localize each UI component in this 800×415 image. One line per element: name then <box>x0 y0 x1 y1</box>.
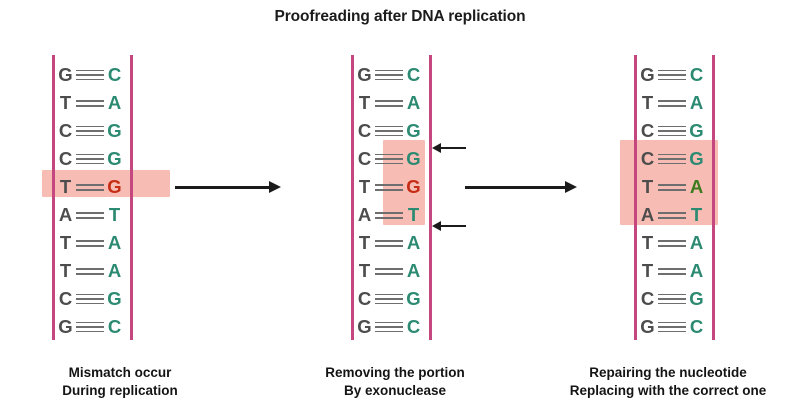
base-right: A <box>106 234 123 253</box>
base-right-mismatch: G <box>405 178 422 197</box>
base-pair-ladder: GCTACGCGTAATTATACGGC <box>628 55 748 347</box>
base-right: A <box>688 94 705 113</box>
arrow-shaft <box>439 147 466 149</box>
triple-bond-icon <box>657 292 687 306</box>
triple-bond-icon <box>657 152 687 166</box>
triple-bond-icon <box>374 292 404 306</box>
base-left: T <box>356 94 373 113</box>
base-pair-row: TA <box>345 229 453 257</box>
proofreading-diagram: Proofreading after DNA replication GCTAC… <box>0 0 800 415</box>
base-pair-row: GC <box>345 313 453 341</box>
base-left: T <box>639 262 656 281</box>
base-pair-row: TA <box>628 89 736 117</box>
base-right: G <box>405 122 422 141</box>
caption-excision: Removing the portion By exonuclease <box>280 364 510 400</box>
triple-bond-icon <box>374 320 404 334</box>
base-pair-row: CG <box>46 117 154 145</box>
triple-bond-icon <box>657 320 687 334</box>
base-right: A <box>106 262 123 281</box>
base-pair-row: CG <box>628 145 736 173</box>
double-bond-icon <box>75 264 105 278</box>
base-right: G <box>405 150 422 169</box>
base-pair-row: CG <box>345 117 453 145</box>
base-left: G <box>356 318 373 337</box>
base-pair-row: CG <box>628 117 736 145</box>
base-left: T <box>356 234 373 253</box>
triple-bond-icon <box>657 124 687 138</box>
arrow-shaft <box>465 186 567 189</box>
arrow-head <box>565 181 577 193</box>
base-right: C <box>106 318 123 337</box>
triple-bond-icon <box>374 124 404 138</box>
dna-panel-repair: GCTACGCGTAATTATACGGC <box>628 55 748 347</box>
exonuclease-arrow-top <box>432 143 466 153</box>
double-bond-icon <box>657 180 687 194</box>
base-left: G <box>639 66 656 85</box>
caption-line-1: Mismatch occur <box>10 364 230 382</box>
triple-bond-icon <box>657 68 687 82</box>
base-right: C <box>405 318 422 337</box>
base-left: T <box>57 234 74 253</box>
exonuclease-arrow-bottom <box>432 221 466 231</box>
base-right: G <box>106 150 123 169</box>
double-bond-icon <box>657 264 687 278</box>
base-left: T <box>639 94 656 113</box>
double-bond-icon <box>75 236 105 250</box>
base-left: C <box>57 122 74 141</box>
base-right: G <box>688 290 705 309</box>
base-right-mismatch: G <box>106 178 123 197</box>
base-pair-row: GC <box>46 61 154 89</box>
base-right: A <box>405 262 422 281</box>
double-bond-icon <box>374 236 404 250</box>
base-pair-row: TG <box>46 173 154 201</box>
base-pair-row: CG <box>46 285 154 313</box>
dna-panel-excision: GCTACGCGTGATTATACGGC <box>345 55 465 347</box>
double-bond-icon <box>657 236 687 250</box>
base-left: C <box>639 150 656 169</box>
arrow-shaft <box>439 225 466 227</box>
triple-bond-icon <box>75 68 105 82</box>
base-left: C <box>356 122 373 141</box>
caption-repair: Repairing the nucleotide Replacing with … <box>540 364 796 400</box>
base-right: T <box>688 206 705 225</box>
base-pair-row: TA <box>628 173 736 201</box>
base-right: G <box>688 122 705 141</box>
base-right: A <box>106 94 123 113</box>
base-right: C <box>688 66 705 85</box>
base-right: A <box>405 234 422 253</box>
base-pair-ladder: GCTACGCGTGATTATACGGC <box>46 55 166 347</box>
double-bond-icon <box>374 96 404 110</box>
base-left: T <box>57 94 74 113</box>
base-pair-row: TA <box>628 229 736 257</box>
base-pair-row: TA <box>46 89 154 117</box>
caption-line-2: During replication <box>10 382 230 400</box>
base-left: T <box>57 178 74 197</box>
dna-panel-mismatch: GCTACGCGTGATTATACGGC <box>46 55 166 347</box>
base-left: C <box>57 150 74 169</box>
base-left: A <box>57 206 74 225</box>
base-pair-ladder: GCTACGCGTGATTATACGGC <box>345 55 465 347</box>
triple-bond-icon <box>75 320 105 334</box>
base-right: A <box>405 94 422 113</box>
arrow-shaft <box>175 186 271 189</box>
base-pair-row: AT <box>628 201 736 229</box>
triple-bond-icon <box>374 152 404 166</box>
double-bond-icon <box>75 180 105 194</box>
base-right-repaired: A <box>688 178 705 197</box>
page-title: Proofreading after DNA replication <box>0 8 800 26</box>
base-left: A <box>639 206 656 225</box>
base-right: G <box>405 290 422 309</box>
base-right: A <box>688 234 705 253</box>
base-right: T <box>106 206 123 225</box>
double-bond-icon <box>75 208 105 222</box>
base-pair-row: TA <box>46 229 154 257</box>
base-left: T <box>639 178 656 197</box>
base-pair-row: CG <box>46 145 154 173</box>
base-right: A <box>688 262 705 281</box>
triple-bond-icon <box>374 68 404 82</box>
base-pair-row: GC <box>628 61 736 89</box>
triple-bond-icon <box>75 152 105 166</box>
triple-bond-icon <box>75 124 105 138</box>
caption-line-2: By exonuclease <box>280 382 510 400</box>
caption-line-1: Repairing the nucleotide <box>540 364 796 382</box>
double-bond-icon <box>75 96 105 110</box>
triple-bond-icon <box>75 292 105 306</box>
base-pair-row: GC <box>628 313 736 341</box>
base-left: C <box>57 290 74 309</box>
base-left: G <box>639 318 656 337</box>
base-pair-row: GC <box>345 61 453 89</box>
base-pair-row: TA <box>345 257 453 285</box>
arrow-head <box>269 181 281 193</box>
base-pair-row: TA <box>628 257 736 285</box>
base-left: C <box>356 150 373 169</box>
base-right: G <box>688 150 705 169</box>
double-bond-icon <box>374 208 404 222</box>
base-right: C <box>405 66 422 85</box>
base-left: C <box>639 122 656 141</box>
caption-line-1: Removing the portion <box>280 364 510 382</box>
base-left: T <box>57 262 74 281</box>
base-pair-row: GC <box>46 313 154 341</box>
base-right: C <box>688 318 705 337</box>
step-arrow-1 <box>175 180 281 194</box>
caption-mismatch: Mismatch occur During replication <box>10 364 230 400</box>
base-left: G <box>356 66 373 85</box>
step-arrow-2 <box>465 180 577 194</box>
base-left: C <box>639 290 656 309</box>
base-pair-row: CG <box>345 285 453 313</box>
base-right: T <box>405 206 422 225</box>
base-pair-row: TG <box>345 173 453 201</box>
base-pair-row: CG <box>628 285 736 313</box>
base-left: G <box>57 66 74 85</box>
base-left: C <box>356 290 373 309</box>
base-pair-row: AT <box>46 201 154 229</box>
base-left: G <box>57 318 74 337</box>
base-left: T <box>639 234 656 253</box>
double-bond-icon <box>374 180 404 194</box>
base-pair-row: TA <box>46 257 154 285</box>
base-right: G <box>106 290 123 309</box>
base-left: A <box>356 206 373 225</box>
base-left: T <box>356 262 373 281</box>
double-bond-icon <box>374 264 404 278</box>
caption-line-2: Replacing with the correct one <box>540 382 796 400</box>
base-pair-row: TA <box>345 89 453 117</box>
base-left: T <box>356 178 373 197</box>
base-right: G <box>106 122 123 141</box>
base-right: C <box>106 66 123 85</box>
double-bond-icon <box>657 208 687 222</box>
double-bond-icon <box>657 96 687 110</box>
